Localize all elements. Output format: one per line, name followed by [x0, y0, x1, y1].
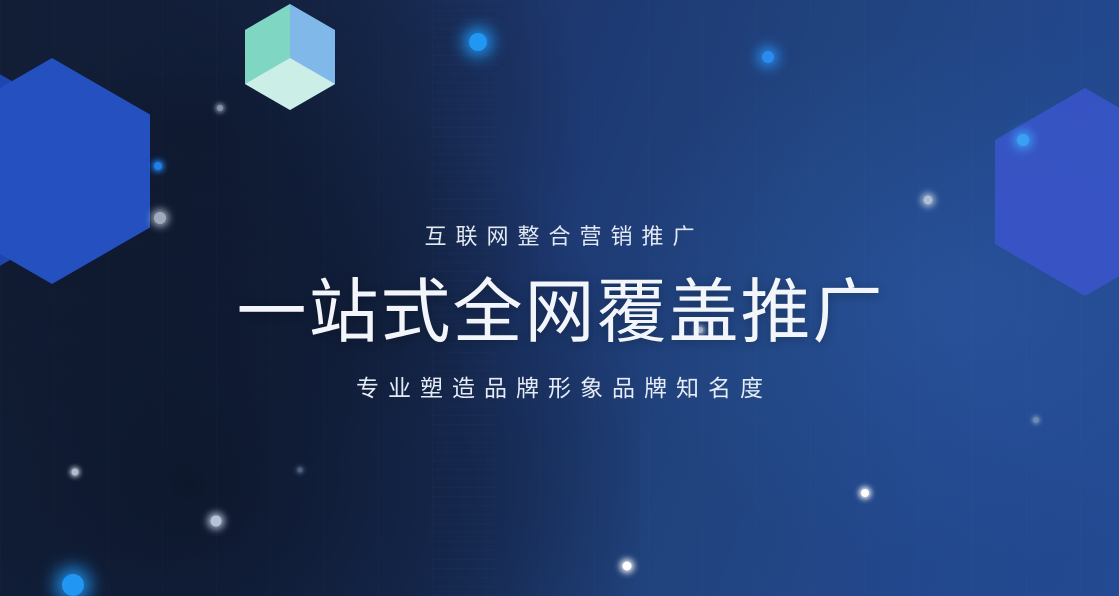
banner-subline: 专业塑造品牌形象品牌知名度	[0, 372, 1119, 404]
banner-headline: 一站式全网覆盖推广	[0, 272, 1119, 356]
hero-banner: 互联网整合营销推广 一站式全网覆盖推广 专业塑造品牌形象品牌知名度	[0, 0, 1119, 596]
hero-text-block: 互联网整合营销推广 一站式全网覆盖推广 专业塑造品牌形象品牌知名度	[0, 222, 1119, 404]
cube-logo-icon	[240, 2, 340, 117]
banner-eyebrow: 互联网整合营销推广	[0, 222, 1119, 252]
